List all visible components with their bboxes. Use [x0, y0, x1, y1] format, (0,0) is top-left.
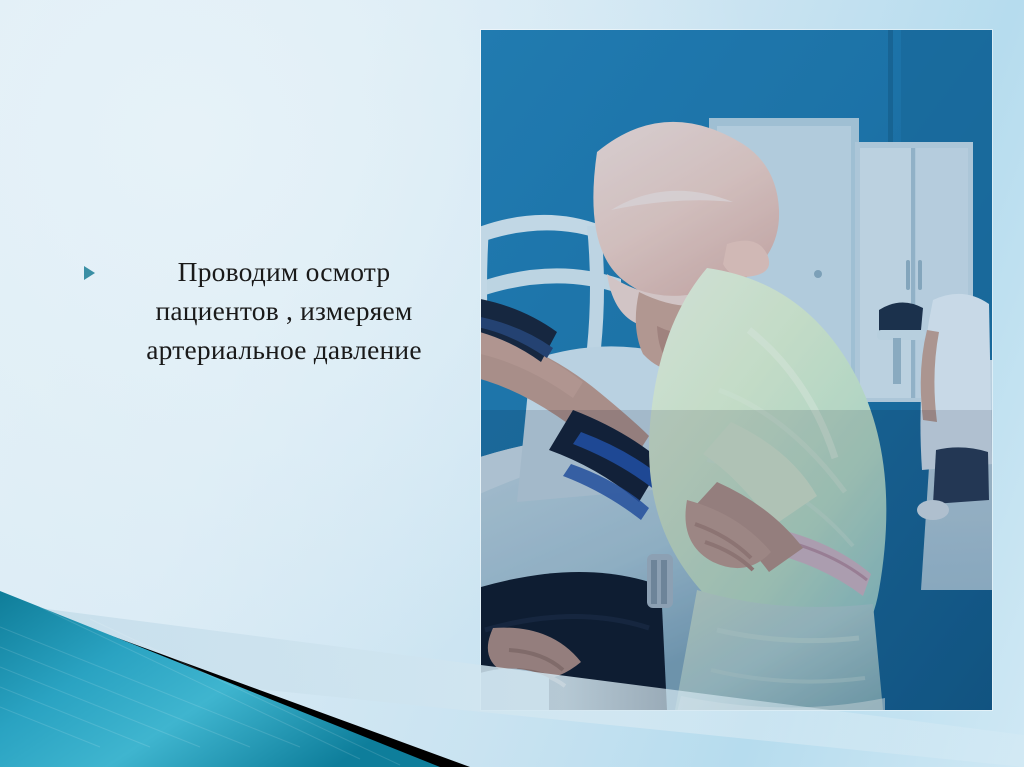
bullet-item-label: Проводим осмотр пациентов , измеряем арт… [84, 252, 454, 369]
content-text-block: Проводим осмотр пациентов , измеряем арт… [84, 252, 454, 369]
teal-wedge-texture [0, 607, 400, 765]
teal-wedge [0, 591, 440, 767]
presentation-slide: Проводим осмотр пациентов , измеряем арт… [0, 0, 1024, 767]
photo-frame [481, 30, 992, 710]
clinical-photograph [481, 30, 992, 710]
bullet-list-item: Проводим осмотр пациентов , измеряем арт… [84, 252, 454, 369]
triangle-right-bullet-icon [84, 266, 95, 280]
black-diagonal-stripe [0, 595, 470, 767]
